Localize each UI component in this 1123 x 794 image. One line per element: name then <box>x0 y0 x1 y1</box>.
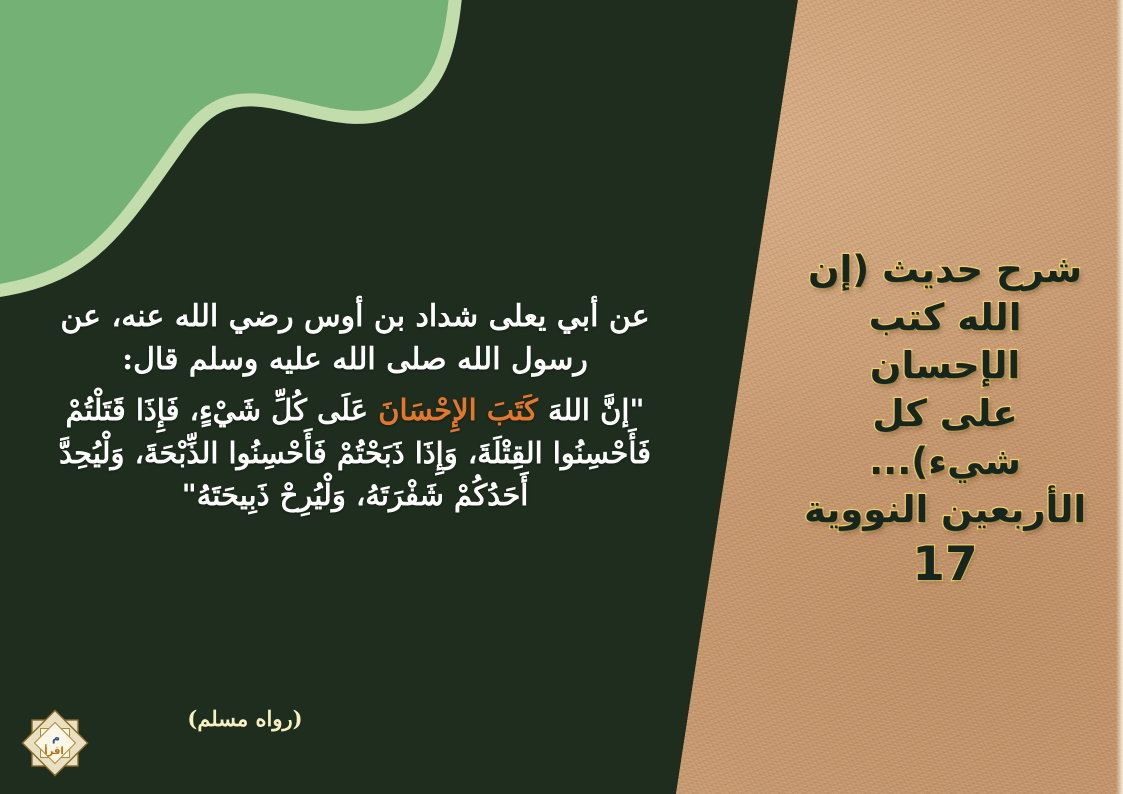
title-line-3: على كل شيء)... <box>795 390 1095 486</box>
title-line-2: الله كتب الإحسان <box>795 294 1095 390</box>
content-area: عن أبي يعلى شداد بن أوس رضي الله عنه، عن… <box>0 0 690 794</box>
source-attribution-row: (رواه مسلم) <box>30 706 460 731</box>
source-attribution: (رواه مسلم) <box>187 706 302 731</box>
title-line-1: شرح حديث (إن <box>795 246 1095 294</box>
poster-title-block: شرح حديث (إن الله كتب الإحسان على كل شيء… <box>795 246 1095 588</box>
logo-glyph-top: م <box>52 731 60 744</box>
hadith-part-1: "إنَّ اللهَ <box>538 393 645 427</box>
hadith-highlight: كَتَبَ الإِحْسَانَ <box>378 393 538 427</box>
title-line-4: الأربعين النووية <box>795 486 1095 534</box>
logo-glyph-bottom: اقرأ <box>44 744 64 757</box>
iqra-star-logo: م اقرأ <box>18 706 92 780</box>
lesson-number: 17 <box>795 541 1095 588</box>
hadith-body: عن أبي يعلى شداد بن أوس رضي الله عنه، عن… <box>30 296 680 516</box>
narrator-chain: عن أبي يعلى شداد بن أوس رضي الله عنه، عن… <box>30 296 680 381</box>
hadith-quote: "إنَّ اللهَ كَتَبَ الإِحْسَانَ عَلَى كُل… <box>30 389 680 516</box>
poster-canvas: عن أبي يعلى شداد بن أوس رضي الله عنه، عن… <box>0 0 1123 794</box>
